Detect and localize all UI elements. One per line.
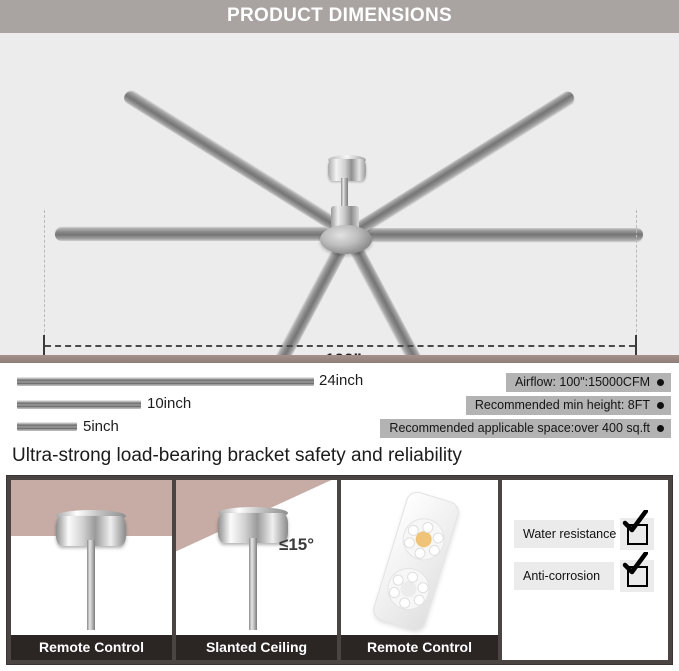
bullet-dot-icon: [657, 425, 664, 432]
check-icon: [622, 552, 648, 576]
bullet-dot-icon: [657, 379, 664, 386]
slant-angle-label: ≤15°: [279, 535, 314, 555]
fan-hub: [320, 225, 372, 254]
feature-row-anti-corrosion: Anti-corrosion: [514, 560, 654, 592]
remote-button-icon: [431, 531, 445, 545]
page-title: PRODUCT DIMENSIONS: [0, 5, 679, 27]
fan-blade: [343, 228, 643, 241]
tagline: Ultra-strong load-bearing bracket safety…: [12, 445, 462, 467]
downrod-and-spec-area: 24inch 10inch 5inch Airflow: 100":15000C…: [0, 363, 679, 441]
panel-slanted-ceiling: ≤15° Slanted Ceiling: [176, 480, 337, 660]
remote-control-device: [371, 489, 462, 633]
feature-row-water-resistance: Water resistance: [514, 518, 654, 550]
spec-text-applicable-space: Recommended applicable space:over 400 sq…: [389, 421, 650, 435]
bullet-dot-icon: [657, 402, 664, 409]
downrod-bar-24inch: [17, 377, 314, 386]
checkbox-water-resistance: [620, 518, 654, 550]
spec-badge-min-height: Recommended min height: 8FT: [466, 396, 671, 415]
remote-button-icon: [428, 544, 442, 558]
panel-caption: Remote Control: [341, 635, 498, 660]
remote-upper-button-cluster: [397, 513, 449, 565]
panel-caption: Slanted Ceiling: [176, 635, 337, 660]
feature-panel-strip: Remote Control ≤15° Slanted Ceiling: [6, 475, 673, 665]
downrod-bar-10inch: [17, 400, 141, 409]
downrod-label-5inch: 5inch: [83, 418, 119, 435]
check-icon: [622, 510, 648, 534]
section-divider: [0, 355, 679, 363]
panel-feature-checklist: Water resistance Anti-corrosion: [502, 480, 668, 660]
spec-badge-applicable-space: Recommended applicable space:over 400 sq…: [380, 419, 671, 438]
downrod-bar-5inch: [17, 422, 77, 431]
product-dimensions-infographic: PRODUCT DIMENSIONS: [0, 0, 679, 671]
remote-button-icon: [416, 581, 430, 595]
remote-button-icon: [398, 596, 412, 610]
panel-remote-control-device: Remote Control: [341, 480, 498, 660]
dimension-guide-right: [636, 210, 637, 342]
panel-caption: Remote Control: [11, 635, 172, 660]
ceiling-fan-illustration: [4, 35, 679, 355]
fan-diagram-area: 100”: [0, 33, 679, 355]
spec-text-min-height: Recommended min height: 8FT: [475, 398, 650, 412]
dimension-guide-left: [44, 210, 45, 342]
remote-button-icon: [403, 536, 417, 550]
spec-badge-airflow: Airflow: 100":15000CFM: [506, 373, 671, 392]
checkbox-anti-corrosion: [620, 560, 654, 592]
fan-blade: [55, 228, 355, 241]
downrod-vertical: [87, 540, 95, 630]
fan-blade: [340, 89, 576, 243]
fan-diagram-canvas: 100”: [4, 35, 675, 353]
remote-button-icon: [387, 586, 401, 600]
feature-label-water-resistance: Water resistance: [514, 520, 614, 548]
spec-text-airflow: Airflow: 100":15000CFM: [515, 375, 650, 389]
dimension-line: [45, 345, 635, 347]
panel-remote-control-mount: Remote Control: [11, 480, 172, 660]
remote-button-icon: [413, 546, 427, 560]
feature-label-anti-corrosion: Anti-corrosion: [514, 562, 614, 590]
downrod-label-10inch: 10inch: [147, 395, 191, 412]
fan-blade: [122, 89, 358, 243]
remote-lower-button-cluster: [382, 563, 434, 615]
downrod-vertical: [249, 538, 257, 630]
remote-button-icon: [412, 593, 426, 607]
downrod-label-24inch: 24inch: [319, 372, 363, 389]
